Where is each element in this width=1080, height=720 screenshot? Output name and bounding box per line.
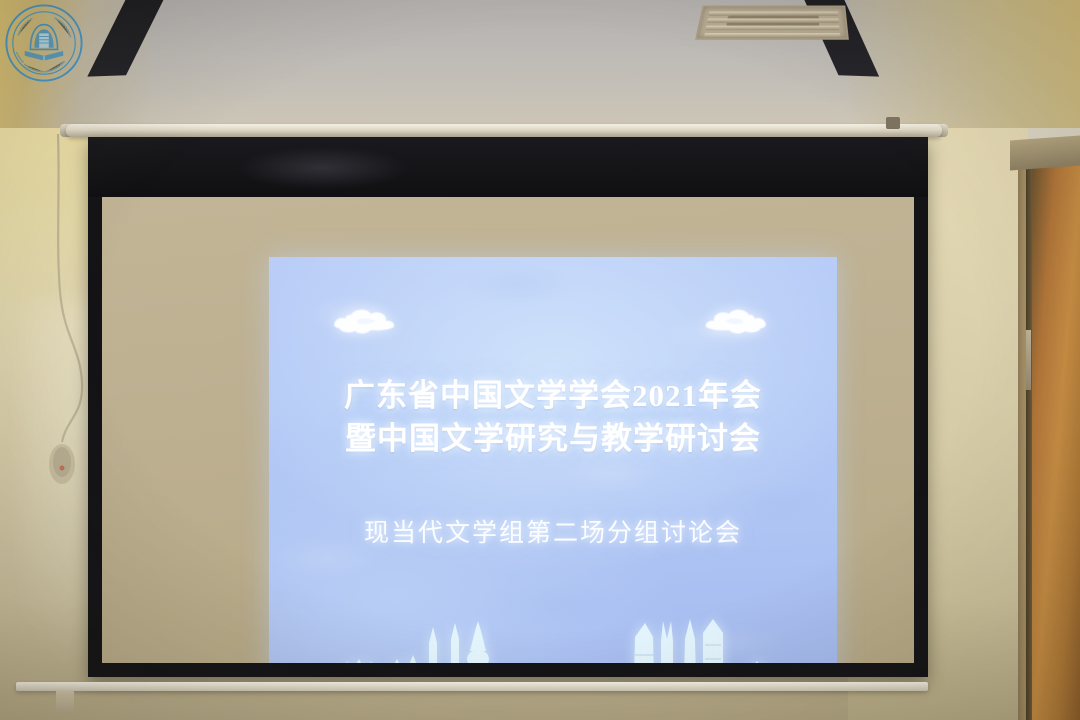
screen-surface: 广东省中国文学学会2021年会 暨中国文学研究与教学研讨会 现当代文学组第二场分…: [102, 197, 914, 663]
slide-subtitle: 现当代文学组第二场分组讨论会: [269, 513, 837, 549]
projected-slide: 广东省中国文学学会2021年会 暨中国文学研究与教学研讨会 现当代文学组第二场分…: [269, 257, 837, 663]
auspicious-cloud-icon-left: [331, 305, 403, 339]
screen-roller-housing: [66, 124, 942, 137]
hvac-vent-slat: [704, 33, 841, 38]
university-seal-logo: [4, 3, 84, 83]
screen-masking-header: [88, 137, 928, 197]
screen-bottom-rail: [16, 682, 928, 691]
slide-title-line-1: 广东省中国文学学会2021年会: [269, 375, 837, 418]
hvac-vent-slat: [705, 26, 840, 31]
projection-screen: 广东省中国文学学会2021年会 暨中国文学研究与教学研讨会 现当代文学组第二场分…: [88, 137, 928, 677]
hvac-vent-slat: [707, 18, 840, 22]
city-skyline-graphic: [269, 615, 837, 663]
slide-title-block: 广东省中国文学学会2021年会 暨中国文学研究与教学研讨会 现当代文学组第二场分…: [269, 375, 837, 549]
door-hinge: [1026, 330, 1031, 390]
screen-header-logo-ghost: [238, 147, 408, 189]
conference-room-scene: 广东省中国文学学会2021年会 暨中国文学研究与教学研讨会 现当代文学组第二场分…: [0, 0, 1080, 720]
screen-rail-tab: [56, 691, 74, 713]
hvac-vent-slat: [708, 11, 839, 15]
door-leaf[interactable]: [1032, 164, 1080, 720]
door-header-beam: [1010, 136, 1080, 171]
slide-title-line-2: 暨中国文学研究与教学研讨会: [269, 418, 837, 461]
ceiling-warm-light-right: [850, 0, 1080, 132]
auspicious-cloud-icon-right: [697, 305, 769, 339]
screen-roller-bracket: [886, 117, 900, 129]
hvac-air-vent: [695, 6, 849, 40]
door-gap: [1026, 156, 1032, 720]
